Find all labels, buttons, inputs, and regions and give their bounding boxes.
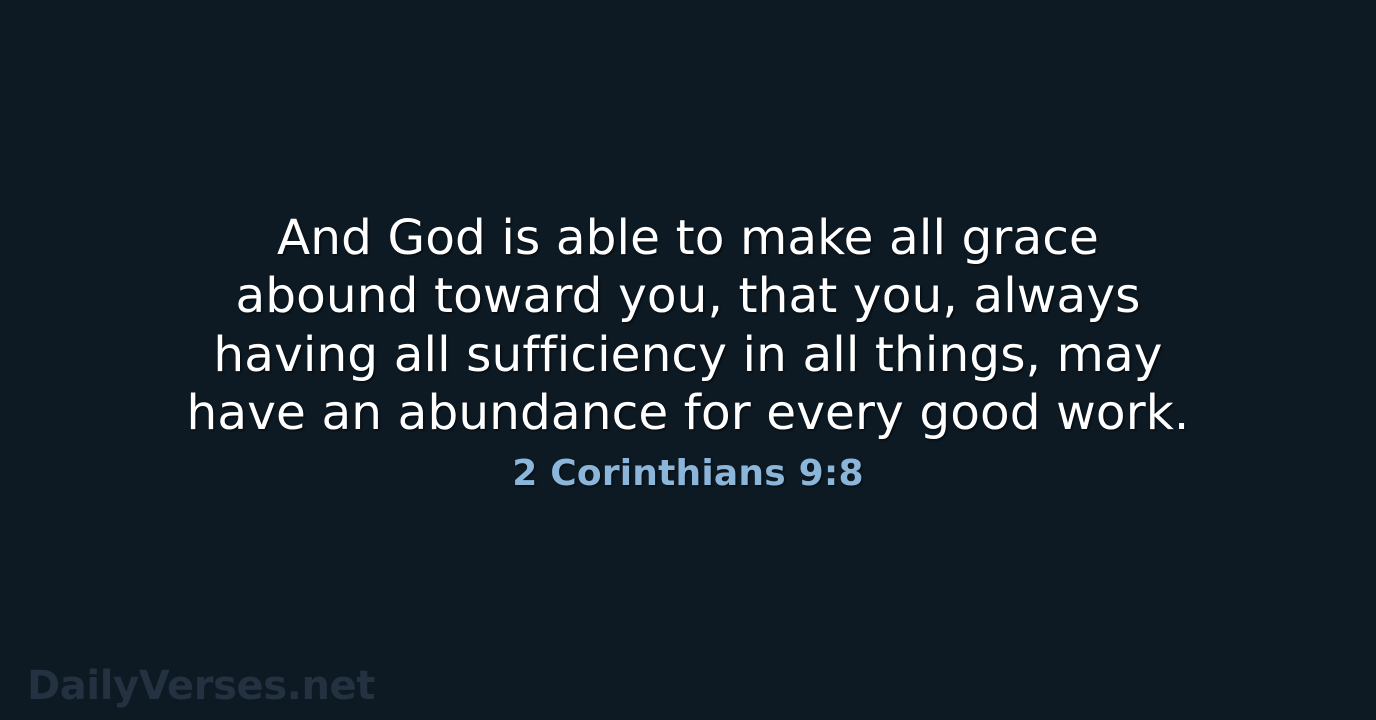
dailyverses-watermark: DailyVerses.net: [27, 662, 375, 710]
verse-reference: 2 Corinthians 9:8: [512, 452, 863, 496]
verse-text: And God is able to make all grace abound…: [183, 209, 1193, 443]
verse-image-card: And God is able to make all grace abound…: [0, 0, 1376, 720]
verse-content-block: And God is able to make all grace abound…: [0, 0, 1376, 720]
